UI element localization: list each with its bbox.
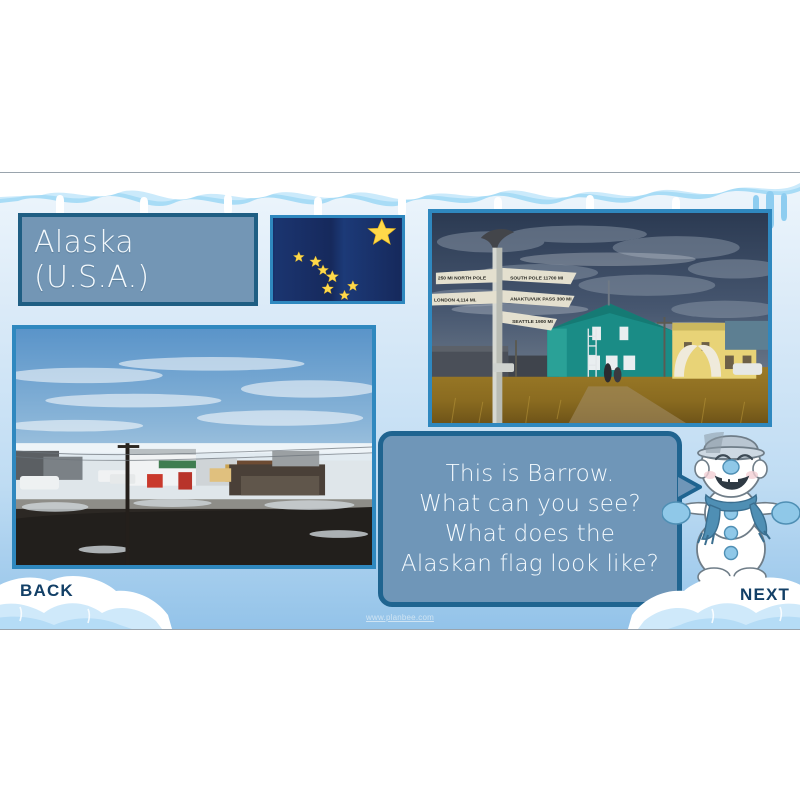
svg-text:SOUTH POLE 11700 MI: SOUTH POLE 11700 MI [510, 275, 564, 281]
svg-text:LONDON 4,114 MI.: LONDON 4,114 MI. [434, 298, 477, 304]
question-text-box: This is Barrow. What can you see? What d… [378, 431, 682, 607]
presentation-slide: Alaska (U.S.A.) [0, 172, 800, 630]
screenshot-canvas: Alaska (U.S.A.) [0, 0, 800, 800]
slide-title-box: Alaska (U.S.A.) [18, 213, 258, 306]
question-line-3: What does the [445, 519, 615, 549]
back-button[interactable]: BACK [20, 581, 74, 601]
question-line-1: This is Barrow. [446, 459, 615, 489]
snowman-character [662, 421, 800, 593]
svg-text:SEATTLE 1900 MI: SEATTLE 1900 MI [512, 319, 553, 325]
next-button[interactable]: NEXT [740, 585, 790, 605]
svg-text:ANAKTUVUK PASS 300 MI: ANAKTUVUK PASS 300 MI [510, 297, 572, 303]
watermark-link[interactable]: www.planbee.com [0, 613, 800, 622]
barrow-signpost-photo: 250 MI NORTH POLE SOUTH POLE 11700 MI LO… [428, 209, 772, 427]
question-line-2: What can you see? [419, 489, 641, 519]
question-line-4: Alaskan flag look like? [401, 549, 659, 579]
page-title: Alaska (U.S.A.) [22, 225, 254, 295]
svg-text:250 MI NORTH POLE: 250 MI NORTH POLE [438, 275, 487, 281]
barrow-winter-photo [12, 325, 376, 569]
alaska-flag [270, 215, 405, 304]
